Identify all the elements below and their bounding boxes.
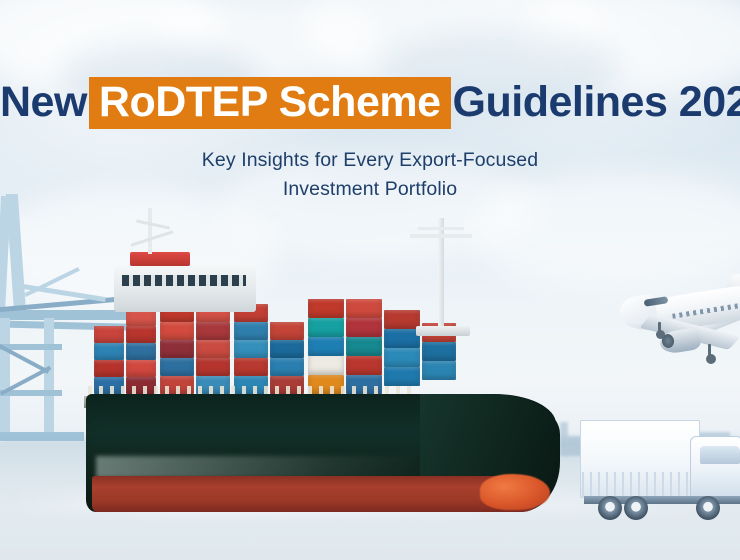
title-highlight: RoDTEP Scheme xyxy=(89,77,451,129)
mast-crossbar xyxy=(418,227,464,230)
truck-wheel xyxy=(624,496,648,520)
plane-gear-strut xyxy=(658,322,661,334)
bridge-windows xyxy=(122,275,246,286)
bulbous-bow xyxy=(480,474,550,510)
ship-bridge xyxy=(114,266,256,312)
container-ship xyxy=(78,212,558,512)
bridge-accent xyxy=(130,252,190,266)
title-prefix: New xyxy=(0,78,87,126)
truck-wheel xyxy=(598,496,622,520)
truck-windshield xyxy=(700,446,740,464)
subtitle-line-2: Investment Portfolio xyxy=(0,175,740,204)
mast-platform xyxy=(416,326,470,336)
cargo-airplane xyxy=(600,268,740,378)
subtitle-line-1: Key Insights for Every Export-Focused xyxy=(0,146,740,175)
aft-mast-arm xyxy=(136,219,170,229)
page-title: NewRoDTEP SchemeGuidelines 2025 xyxy=(0,76,740,129)
mast-crossbar xyxy=(410,234,472,238)
page-subtitle: Key Insights for Every Export-Focused In… xyxy=(0,146,740,204)
rodtep-banner: NewRoDTEP SchemeGuidelines 2025 Key Insi… xyxy=(0,0,740,560)
title-suffix: Guidelines 2025 xyxy=(453,78,740,126)
hull-weathering xyxy=(96,456,426,478)
aft-mast-arm xyxy=(131,230,174,246)
aft-mast xyxy=(148,208,152,254)
semi-truck xyxy=(580,394,740,524)
truck-wheel xyxy=(696,496,720,520)
plane-gear-strut xyxy=(708,344,711,356)
trailer-curtain xyxy=(582,472,696,498)
hull-boottop xyxy=(92,476,544,512)
